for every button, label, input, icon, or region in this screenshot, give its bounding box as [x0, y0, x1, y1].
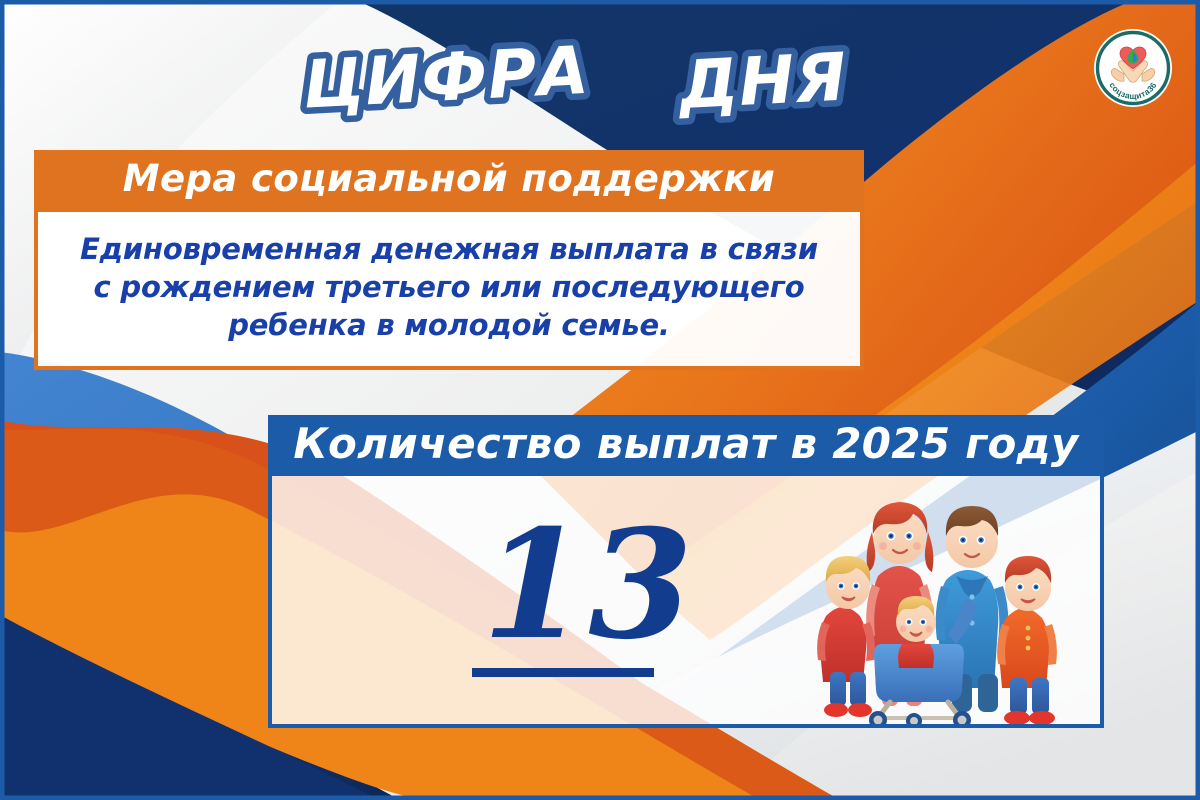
family-boy-blond — [817, 556, 875, 717]
organization-logo: соцзащита36 — [1093, 28, 1173, 108]
logo-svg: соцзащита36 — [1093, 28, 1173, 108]
measure-line-1: Единовременная денежная выплата в связи — [64, 230, 834, 268]
measure-card: Мера социальной поддержки Единовременная… — [34, 150, 864, 370]
count-value: 13 — [482, 510, 695, 660]
measure-line-2: с рождением третьего или последующего — [64, 268, 834, 306]
count-value-underline — [472, 668, 654, 677]
count-card-header-text: Количество выплат в 2025 году — [282, 421, 1090, 466]
family-illustration — [810, 476, 1092, 728]
measure-card-header-text: Мера социальной поддержки — [52, 159, 846, 200]
count-card-body: 13 — [268, 476, 1104, 728]
count-card-header: Количество выплат в 2025 году — [268, 415, 1104, 476]
measure-line-3: ребенка в молодой семье. — [64, 306, 834, 344]
measure-card-header: Мера социальной поддержки — [34, 150, 864, 212]
poster-canvas: соцзащита36 ЦИФРА ЦИФРА ДНЯ ДНЯ Мера соц… — [0, 0, 1200, 800]
measure-card-body: Единовременная денежная выплата в связи … — [34, 212, 864, 371]
family-illustration-svg — [810, 476, 1092, 728]
count-card: Количество выплат в 2025 году 13 — [268, 415, 1104, 735]
family-boy-redhead — [997, 556, 1057, 725]
family-baby — [896, 596, 936, 668]
